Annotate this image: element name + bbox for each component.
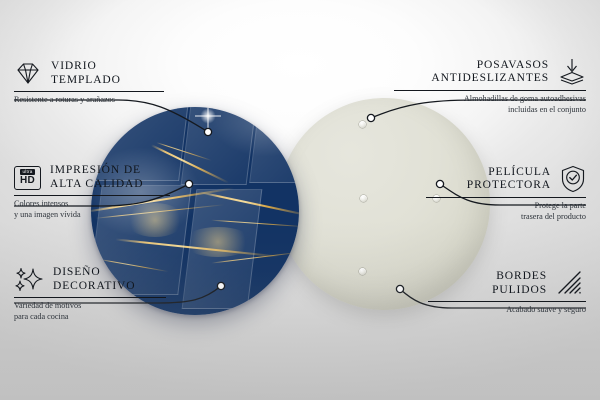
feature-title-line2: PULIDOS — [492, 284, 547, 298]
feature-bordes-pulidos: BORDES PULIDOS Acabado suave y seguro — [428, 270, 586, 316]
feature-title-line1: DISEÑO — [53, 266, 135, 280]
infographic-canvas: VIDRIO TEMPLADO Resistente a roturas y a… — [0, 0, 600, 400]
ultra-hd-badge-icon: ultra HD — [14, 166, 41, 190]
feature-divider — [394, 90, 586, 91]
glass-sparkle-icon — [195, 107, 221, 129]
feature-title-line2: PROTECTORA — [467, 179, 551, 193]
diagonal-hatch-icon — [556, 271, 586, 297]
feature-title-line2: ALTA CALIDAD — [50, 178, 143, 192]
feature-title-line2: DECORATIVO — [53, 280, 135, 294]
feature-title-line2: ANTIDESLIZANTES — [431, 72, 549, 86]
feature-subtitle: Variedad de motivos para cada cocina — [14, 301, 166, 322]
feature-divider — [428, 301, 586, 302]
feature-divider — [14, 195, 170, 196]
shield-check-icon — [560, 165, 586, 193]
feature-title-line1: PELÍCULA — [467, 166, 551, 180]
feature-impresion-alta-calidad: ultra HD IMPRESIÓN DE ALTA CALIDAD Color… — [14, 164, 170, 220]
sparkles-icon — [14, 267, 44, 293]
feature-posavasos-antideslizantes: POSAVASOS ANTIDESLIZANTES Almohadillas d… — [394, 58, 586, 115]
feature-title-line1: POSAVASOS — [431, 59, 549, 73]
feature-divider — [14, 297, 166, 298]
feature-divider — [14, 91, 164, 92]
feature-title-line2: TEMPLADO — [51, 74, 121, 88]
feature-subtitle: Resistente a roturas y arañazos — [14, 95, 164, 106]
feature-subtitle: Protege la parte trasera del producto — [426, 201, 586, 222]
feature-subtitle: Almohadillas de goma autoadhesivas inclu… — [394, 94, 586, 115]
feature-subtitle: Acabado suave y seguro — [428, 305, 586, 316]
anti-slip-pad — [359, 268, 366, 275]
press-down-pad-icon — [558, 58, 586, 86]
feature-subtitle: Colores intensos y una imagen vívida — [14, 199, 170, 220]
feature-pelicula-protectora: PELÍCULA PROTECTORA Protege la parte tra… — [426, 165, 586, 222]
feature-title-line1: VIDRIO — [51, 60, 121, 74]
feature-vidrio-templado: VIDRIO TEMPLADO Resistente a roturas y a… — [14, 60, 164, 106]
feature-divider — [426, 197, 586, 198]
diamond-icon — [14, 61, 42, 86]
anti-slip-pad — [360, 195, 367, 202]
feature-title-line1: BORDES — [492, 270, 547, 284]
ultra-hd-large-label: HD — [20, 176, 35, 186]
glass-glare — [211, 107, 299, 157]
feature-title-line1: IMPRESIÓN DE — [50, 164, 143, 178]
anti-slip-pad — [359, 121, 366, 128]
feature-diseno-decorativo: DISEÑO DECORATIVO Variedad de motivos pa… — [14, 266, 166, 322]
